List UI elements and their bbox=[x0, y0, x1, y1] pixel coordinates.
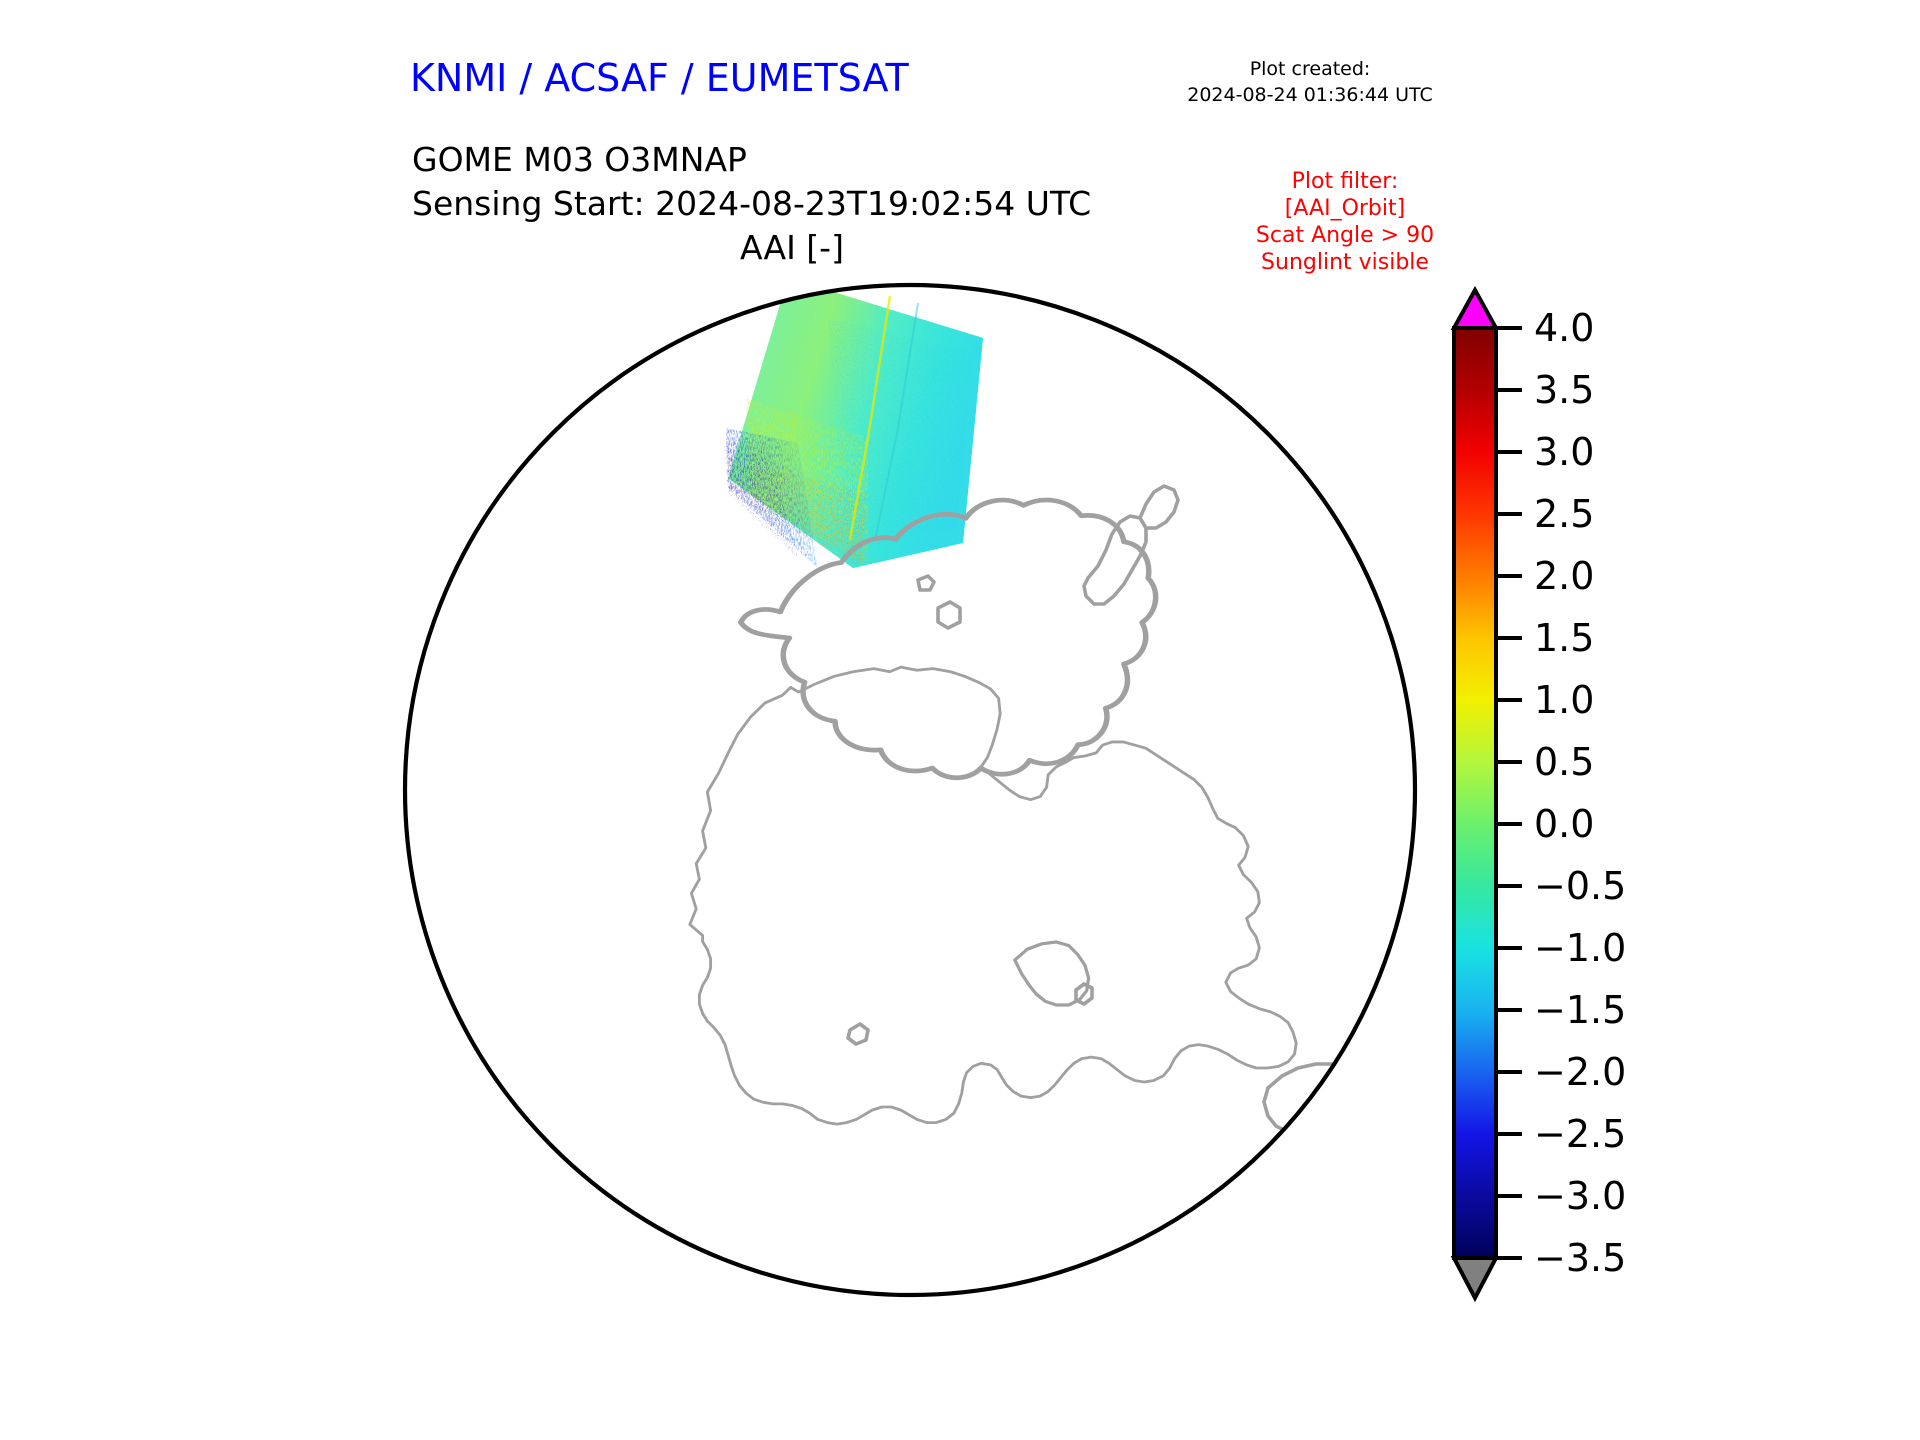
quantity-title: AAI [-] bbox=[412, 228, 1172, 267]
coastline-island-tasman bbox=[1328, 1152, 1362, 1174]
colorbar-tick-label: −2.0 bbox=[1534, 1050, 1626, 1094]
plot-filter-line-3: Sunglint visible bbox=[1160, 249, 1530, 276]
organisation-title: KNMI / ACSAF / EUMETSAT bbox=[410, 56, 909, 100]
colorbar-tick-label: 1.0 bbox=[1534, 678, 1594, 722]
colorbar-ticks: 4.03.53.02.52.01.51.00.50.0−0.5−1.0−1.5−… bbox=[1496, 306, 1626, 1280]
coastline-new-zealand-north bbox=[1140, 486, 1178, 528]
plot-created-block: Plot created: 2024-08-24 01:36:44 UTC bbox=[1100, 56, 1520, 108]
colorbar-canvas: 4.03.53.02.52.01.51.00.50.0−0.5−1.0−1.5−… bbox=[1430, 280, 1760, 1320]
aai-swath bbox=[724, 278, 983, 568]
colorbar-tick-label: −3.5 bbox=[1534, 1236, 1626, 1280]
coastlines bbox=[690, 486, 1428, 1308]
colorbar-tick-label: 4.0 bbox=[1534, 306, 1594, 350]
colorbar-tick-label: 0.5 bbox=[1534, 740, 1594, 784]
plot-filter-line-2: Scat Angle > 90 bbox=[1160, 222, 1530, 249]
colorbar-gradient bbox=[1454, 328, 1496, 1258]
plot-filter-line-1: [AAI_Orbit] bbox=[1160, 195, 1530, 222]
polar-map bbox=[398, 278, 1428, 1308]
colorbar-tick-label: −3.0 bbox=[1534, 1174, 1626, 1218]
plot-filter-block: Plot filter: [AAI_Orbit] Scat Angle > 90… bbox=[1160, 168, 1530, 276]
colorbar-tick-label: 3.5 bbox=[1534, 368, 1594, 412]
sensing-start: Sensing Start: 2024-08-23T19:02:54 UTC bbox=[412, 182, 1091, 226]
colorbar-tick-label: −0.5 bbox=[1534, 864, 1626, 908]
colorbar: 4.03.53.02.52.01.51.00.50.0−0.5−1.0−1.5−… bbox=[1430, 280, 1760, 1320]
coastline-island-campbell bbox=[918, 576, 934, 590]
colorbar-tick-label: −1.5 bbox=[1534, 988, 1626, 1032]
colorbar-tick-label: 3.0 bbox=[1534, 430, 1594, 474]
map-canvas bbox=[398, 278, 1428, 1308]
coastline-island-west bbox=[848, 1024, 868, 1044]
plot-created-timestamp: 2024-08-24 01:36:44 UTC bbox=[1100, 82, 1520, 108]
colorbar-under-arrow bbox=[1454, 1258, 1496, 1298]
colorbar-tick-label: 0.0 bbox=[1534, 802, 1594, 846]
coastline-new-zealand-south bbox=[1084, 516, 1146, 604]
colorbar-tick-label: 2.0 bbox=[1534, 554, 1594, 598]
plot-filter-label: Plot filter: bbox=[1160, 168, 1530, 195]
colorbar-tick-label: 2.5 bbox=[1534, 492, 1594, 536]
plot-created-label: Plot created: bbox=[1100, 56, 1520, 82]
aai-swath-group bbox=[724, 278, 983, 568]
coastline-tasmania bbox=[1314, 1302, 1334, 1308]
dataset-name: GOME M03 O3MNAP bbox=[412, 138, 1091, 182]
colorbar-tick-label: −1.0 bbox=[1534, 926, 1626, 970]
colorbar-over-arrow bbox=[1454, 290, 1496, 328]
dataset-block: GOME M03 O3MNAP Sensing Start: 2024-08-2… bbox=[412, 138, 1091, 226]
coastline-island-auckland bbox=[938, 602, 960, 628]
coastline-antarctica-detail bbox=[690, 667, 1296, 1124]
colorbar-tick-label: 1.5 bbox=[1534, 616, 1594, 660]
colorbar-tick-label: −2.5 bbox=[1534, 1112, 1626, 1156]
